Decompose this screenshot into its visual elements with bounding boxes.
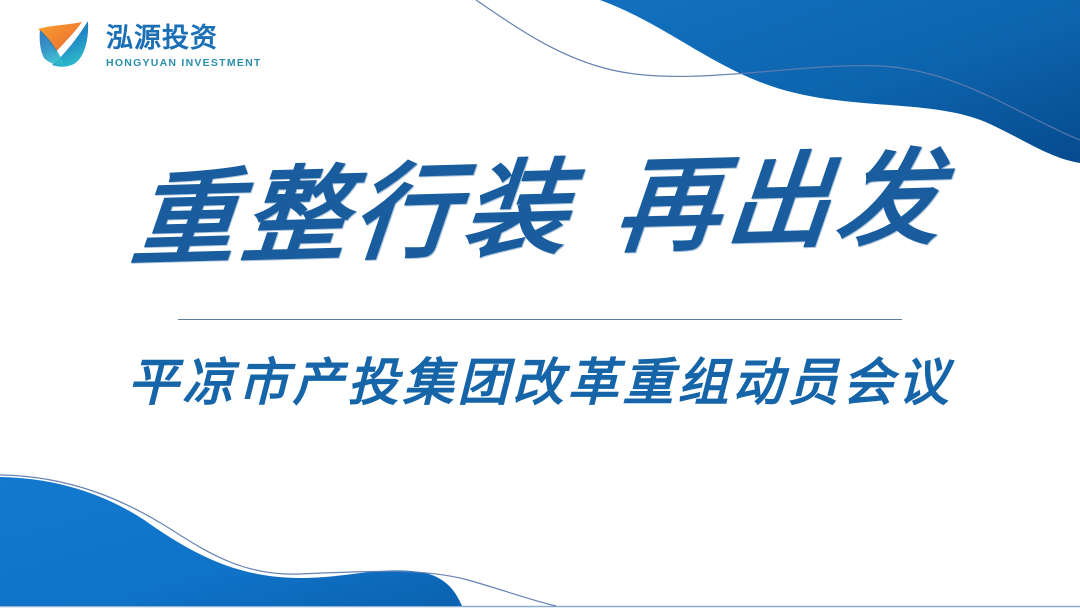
presentation-slide: 泓源投资 HONGYUAN INVESTMENT 重整行装 再出发 平凉市产投集… [0, 0, 1080, 608]
meeting-title: 平凉市产投集团改革重组动员会议 [127, 352, 952, 416]
headline-block: 重整行装 再出发 [0, 148, 1080, 271]
subtitle-block: 平凉市产投集团改革重组动员会议 [0, 352, 1080, 416]
bird-wing-logo-icon [34, 17, 96, 75]
logo-wordmark: 泓源投资 HONGYUAN INVESTMENT [106, 23, 262, 68]
logo-company-name-en: HONGYUAN INVESTMENT [106, 57, 262, 69]
calligraphy-headline: 重整行装 再出发 [127, 137, 953, 282]
headline-subtitle-divider [178, 319, 902, 320]
logo-company-name-cn: 泓源投资 [106, 25, 262, 53]
company-logo: 泓源投资 HONGYUAN INVESTMENT [34, 17, 262, 75]
bottom-left-blue-wave [0, 477, 462, 606]
background-decoration [0, 0, 1080, 608]
